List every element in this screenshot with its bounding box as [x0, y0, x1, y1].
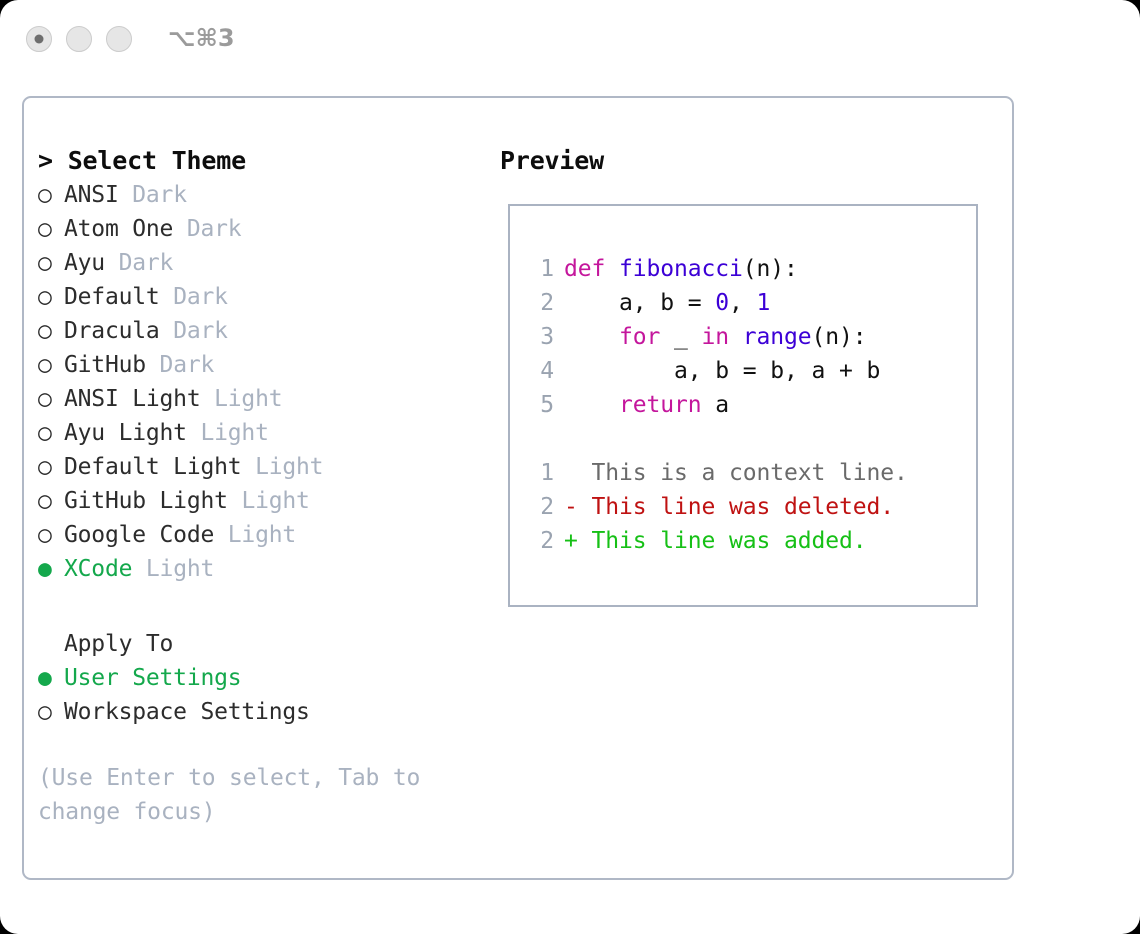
theme-option-atom-one[interactable]: ○Atom One Dark: [38, 212, 478, 246]
diff-marker: [564, 460, 592, 486]
apply-to-option-user-settings[interactable]: ●User Settings: [38, 661, 478, 695]
theme-variant-badge: Light: [214, 386, 282, 412]
code-token-kw: in: [702, 324, 730, 350]
radio-selected-icon: ●: [38, 552, 64, 586]
theme-option-github-light[interactable]: ○GitHub Light Light: [38, 484, 478, 518]
code-token-fn: fibonacci: [619, 256, 743, 282]
line-number: 1: [524, 456, 554, 490]
code-sample-area: 1def fibonacci(n):2 a, b = 0, 13 for _ i…: [524, 252, 964, 558]
theme-picker: > Select Theme ○ANSI Dark○Atom One Dark○…: [38, 144, 478, 586]
diff-text: This line was added.: [592, 528, 867, 554]
diff-line-ctx: 1 This is a context line.: [524, 456, 964, 490]
theme-variant-badge: Light: [255, 454, 323, 480]
code-line: 2 a, b = 0, 1: [524, 286, 964, 320]
code-token-kw: def: [564, 256, 619, 282]
line-number: 1: [524, 252, 554, 286]
app-window: ⌥⌘3 > Select Theme ○ANSI Dark○Atom One D…: [0, 0, 1140, 934]
code-token-plain: (n):: [743, 256, 798, 282]
code-token-plain: a: [701, 392, 729, 418]
radio-unselected-icon: ○: [38, 518, 64, 552]
radio-unselected-icon: ○: [38, 416, 64, 450]
window-dot-close[interactable]: [26, 26, 52, 52]
code-token-kw: return: [619, 392, 701, 418]
theme-variant-badge: Dark: [119, 250, 174, 276]
apply-to-options: ●User Settings○Workspace Settings: [38, 661, 478, 729]
theme-name: GitHub: [64, 352, 146, 378]
code-token-plain: (n):: [812, 324, 867, 350]
radio-unselected-icon: ○: [38, 450, 64, 484]
radio-selected-icon: ●: [38, 661, 64, 695]
theme-option-default-light[interactable]: ○Default Light Light: [38, 450, 478, 484]
apply-to-option-label: User Settings: [64, 665, 241, 691]
theme-name: Dracula: [64, 318, 160, 344]
diff-marker: +: [564, 528, 592, 554]
line-number: 2: [524, 286, 554, 320]
theme-variant-badge: Dark: [173, 284, 228, 310]
theme-name: XCode: [64, 556, 132, 582]
theme-variant-badge: Light: [146, 556, 214, 582]
apply-to-header: Apply To: [38, 627, 478, 661]
radio-unselected-icon: ○: [38, 246, 64, 280]
theme-option-google-code[interactable]: ○Google Code Light: [38, 518, 478, 552]
diff-line-del: 2- This line was deleted.: [524, 490, 964, 524]
code-token-fn: range: [743, 324, 812, 350]
radio-unselected-icon: ○: [38, 695, 64, 729]
radio-unselected-icon: ○: [38, 178, 64, 212]
theme-name: ANSI Light: [64, 386, 200, 412]
theme-option-ayu[interactable]: ○Ayu Dark: [38, 246, 478, 280]
keyboard-shortcut-label: ⌥⌘3: [168, 24, 235, 52]
code-token-plain: [729, 324, 743, 350]
theme-option-ansi[interactable]: ○ANSI Dark: [38, 178, 478, 212]
code-token-plain: [564, 392, 619, 418]
theme-name: Google Code: [64, 522, 214, 548]
radio-unselected-icon: ○: [38, 280, 64, 314]
diff-text: This is a context line.: [592, 460, 908, 486]
preview-box: 1def fibonacci(n):2 a, b = 0, 13 for _ i…: [508, 204, 978, 607]
theme-option-ansi-light[interactable]: ○ANSI Light Light: [38, 382, 478, 416]
theme-variant-badge: Light: [200, 420, 268, 446]
code-token-kw: for: [619, 324, 660, 350]
code-token-plain: a, b = b, a + b: [564, 358, 880, 384]
theme-option-github[interactable]: ○GitHub Dark: [38, 348, 478, 382]
line-number: 4: [524, 354, 554, 388]
theme-option-dracula[interactable]: ○Dracula Dark: [38, 314, 478, 348]
radio-unselected-icon: ○: [38, 314, 64, 348]
code-token-num: 1: [756, 290, 770, 316]
radio-unselected-icon: ○: [38, 382, 64, 416]
radio-unselected-icon: ○: [38, 348, 64, 382]
theme-name: ANSI: [64, 182, 119, 208]
window-dot-minimize[interactable]: [66, 26, 92, 52]
theme-variant-badge: Dark: [160, 352, 215, 378]
main-panel: > Select Theme ○ANSI Dark○Atom One Dark○…: [22, 96, 1014, 880]
theme-variant-badge: Dark: [132, 182, 187, 208]
theme-name: Default: [64, 284, 160, 310]
preview-column: Preview 1def fibonacci(n):2 a, b = 0, 13…: [500, 144, 1000, 178]
line-number: 2: [524, 490, 554, 524]
code-token-plain: a, b =: [564, 290, 715, 316]
theme-name: Ayu: [64, 250, 105, 276]
theme-option-ayu-light[interactable]: ○Ayu Light Light: [38, 416, 478, 450]
diff-line-add: 2+ This line was added.: [524, 524, 964, 558]
radio-unselected-icon: ○: [38, 212, 64, 246]
code-line: 5 return a: [524, 388, 964, 422]
theme-name: Default Light: [64, 454, 241, 480]
line-number: 3: [524, 320, 554, 354]
keyboard-hint-text: (Use Enter to select, Tab to change focu…: [38, 761, 450, 829]
title-bar: ⌥⌘3: [0, 0, 1140, 78]
theme-variant-badge: Dark: [173, 318, 228, 344]
window-dot-maximize[interactable]: [106, 26, 132, 52]
theme-variant-badge: Light: [241, 488, 309, 514]
code-line: 3 for _ in range(n):: [524, 320, 964, 354]
radio-unselected-icon: ○: [38, 484, 64, 518]
code-token-plain: [564, 324, 619, 350]
preview-header: Preview: [500, 144, 1000, 178]
theme-list: ○ANSI Dark○Atom One Dark○Ayu Dark○Defaul…: [38, 178, 478, 586]
code-token-plain: _: [660, 324, 701, 350]
code-line: 1def fibonacci(n):: [524, 252, 964, 286]
line-number: 2: [524, 524, 554, 558]
theme-option-xcode[interactable]: ●XCode Light: [38, 552, 478, 586]
theme-option-default[interactable]: ○Default Dark: [38, 280, 478, 314]
theme-variant-badge: Light: [228, 522, 296, 548]
diff-text: This line was deleted.: [592, 494, 894, 520]
code-token-num: 0: [715, 290, 729, 316]
theme-variant-badge: Dark: [187, 216, 242, 242]
apply-to-group: Apply To ●User Settings○Workspace Settin…: [38, 627, 478, 729]
line-number: 5: [524, 388, 554, 422]
theme-name: Ayu Light: [64, 420, 187, 446]
select-theme-header: > Select Theme: [38, 144, 478, 178]
theme-name: Atom One: [64, 216, 173, 242]
theme-name: GitHub Light: [64, 488, 228, 514]
diff-marker: -: [564, 494, 592, 520]
apply-to-option-label: Workspace Settings: [64, 699, 310, 725]
apply-to-option-workspace-settings[interactable]: ○Workspace Settings: [38, 695, 478, 729]
code-diff-separator: [524, 422, 964, 456]
code-line: 4 a, b = b, a + b: [524, 354, 964, 388]
code-token-plain: ,: [729, 290, 757, 316]
